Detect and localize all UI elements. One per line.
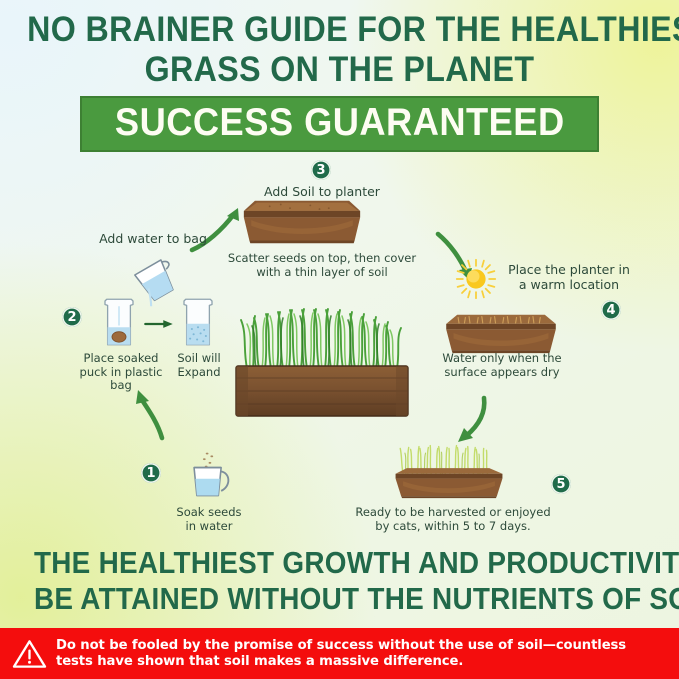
step-5-caption-line-2: by cats, within 5 to 7 days.: [375, 519, 530, 533]
step-badge-1: 1: [141, 463, 161, 483]
step-2-caption-secondary: Soil will Expand: [164, 352, 234, 379]
step-4-title-line-2: a warm location: [519, 277, 619, 292]
step-5-caption: Ready to be harvested or enjoyed by cats…: [348, 506, 558, 533]
step-2-caption: Place soaked puck in plastic bag: [71, 352, 171, 393]
warning-line-1: Do not be fooled by the promise of succe…: [56, 638, 626, 653]
success-guaranteed-banner: SUCCESS GUARANTEED: [80, 96, 600, 152]
sprouted-planter-icon: [378, 440, 520, 500]
header-block: NO BRAINER GUIDE FOR THE HEALTHIEST GRAS…: [0, 10, 679, 152]
warning-triangle-icon: [12, 638, 47, 670]
infographic-poster: NO BRAINER GUIDE FOR THE HEALTHIEST GRAS…: [0, 0, 679, 679]
warning-text: Do not be fooled by the promise of succe…: [56, 638, 626, 670]
step-3-caption: Scatter seeds on top, then cover with a …: [222, 252, 422, 279]
plastic-bag-expanded-soil-icon: [176, 294, 220, 350]
plastic-bag-with-puck-icon: [97, 294, 141, 350]
step-4-caption-line-2: surface appears dry: [444, 365, 559, 379]
step-5-caption-line-1: Ready to be harvested or enjoyed: [355, 505, 550, 519]
step-2-caption2-line-2: Expand: [177, 365, 220, 379]
warning-line-2: tests have shown that soil makes a massi…: [56, 654, 463, 669]
step-1-caption-line-2: in water: [186, 519, 233, 533]
step-3-caption-line-1: Scatter seeds on top, then cover: [228, 251, 416, 265]
warning-bar: Do not be fooled by the promise of succe…: [0, 628, 679, 679]
headline-line-2: GRASS ON THE PLANET: [27, 50, 652, 90]
step-badge-4: 4: [601, 300, 621, 320]
seeded-planter-icon: [437, 312, 565, 354]
step-1-caption: Soak seeds in water: [149, 506, 269, 533]
step-1-caption-line-1: Soak seeds: [176, 505, 241, 519]
step-2-caption-line-2: puck in plastic bag: [80, 365, 163, 393]
step-badge-5: 5: [551, 474, 571, 494]
step-badge-2: 2: [62, 307, 82, 327]
slogan-line-1: THE HEALTHIEST GROWTH AND PRODUCTIVITY W…: [34, 545, 645, 581]
step-4-caption: Water only when the surface appears dry: [431, 352, 573, 379]
step-4-title: Place the planter in a warm location: [484, 262, 654, 292]
step-badge-3: 3: [311, 160, 331, 180]
slogan-line-2: BE ATTAINED WITHOUT THE NUTRIENTS OF SOI…: [34, 581, 645, 617]
hero-grass-planter-image: [227, 292, 417, 422]
step-3-caption-line-2: with a thin layer of soil: [256, 265, 387, 279]
soil-planter-icon: [232, 198, 372, 246]
step-2-title: Add water to bag: [68, 231, 238, 246]
step-3-title: Add Soil to planter: [237, 184, 407, 199]
banner-label: SUCCESS GUARANTEED: [115, 102, 565, 144]
arrow-bag-to-bag: [144, 318, 174, 330]
step-4-caption-line-1: Water only when the: [442, 351, 561, 365]
headline-line-1: NO BRAINER GUIDE FOR THE HEALTHIEST: [27, 10, 652, 50]
measuring-cup-icon: [181, 447, 237, 503]
step-2-caption2-line-1: Soil will: [177, 351, 220, 365]
bottom-slogan: THE HEALTHIEST GROWTH AND PRODUCTIVITY W…: [0, 545, 679, 617]
step-4-title-line-1: Place the planter in: [508, 262, 630, 277]
step-2-caption-line-1: Place soaked: [84, 351, 159, 365]
